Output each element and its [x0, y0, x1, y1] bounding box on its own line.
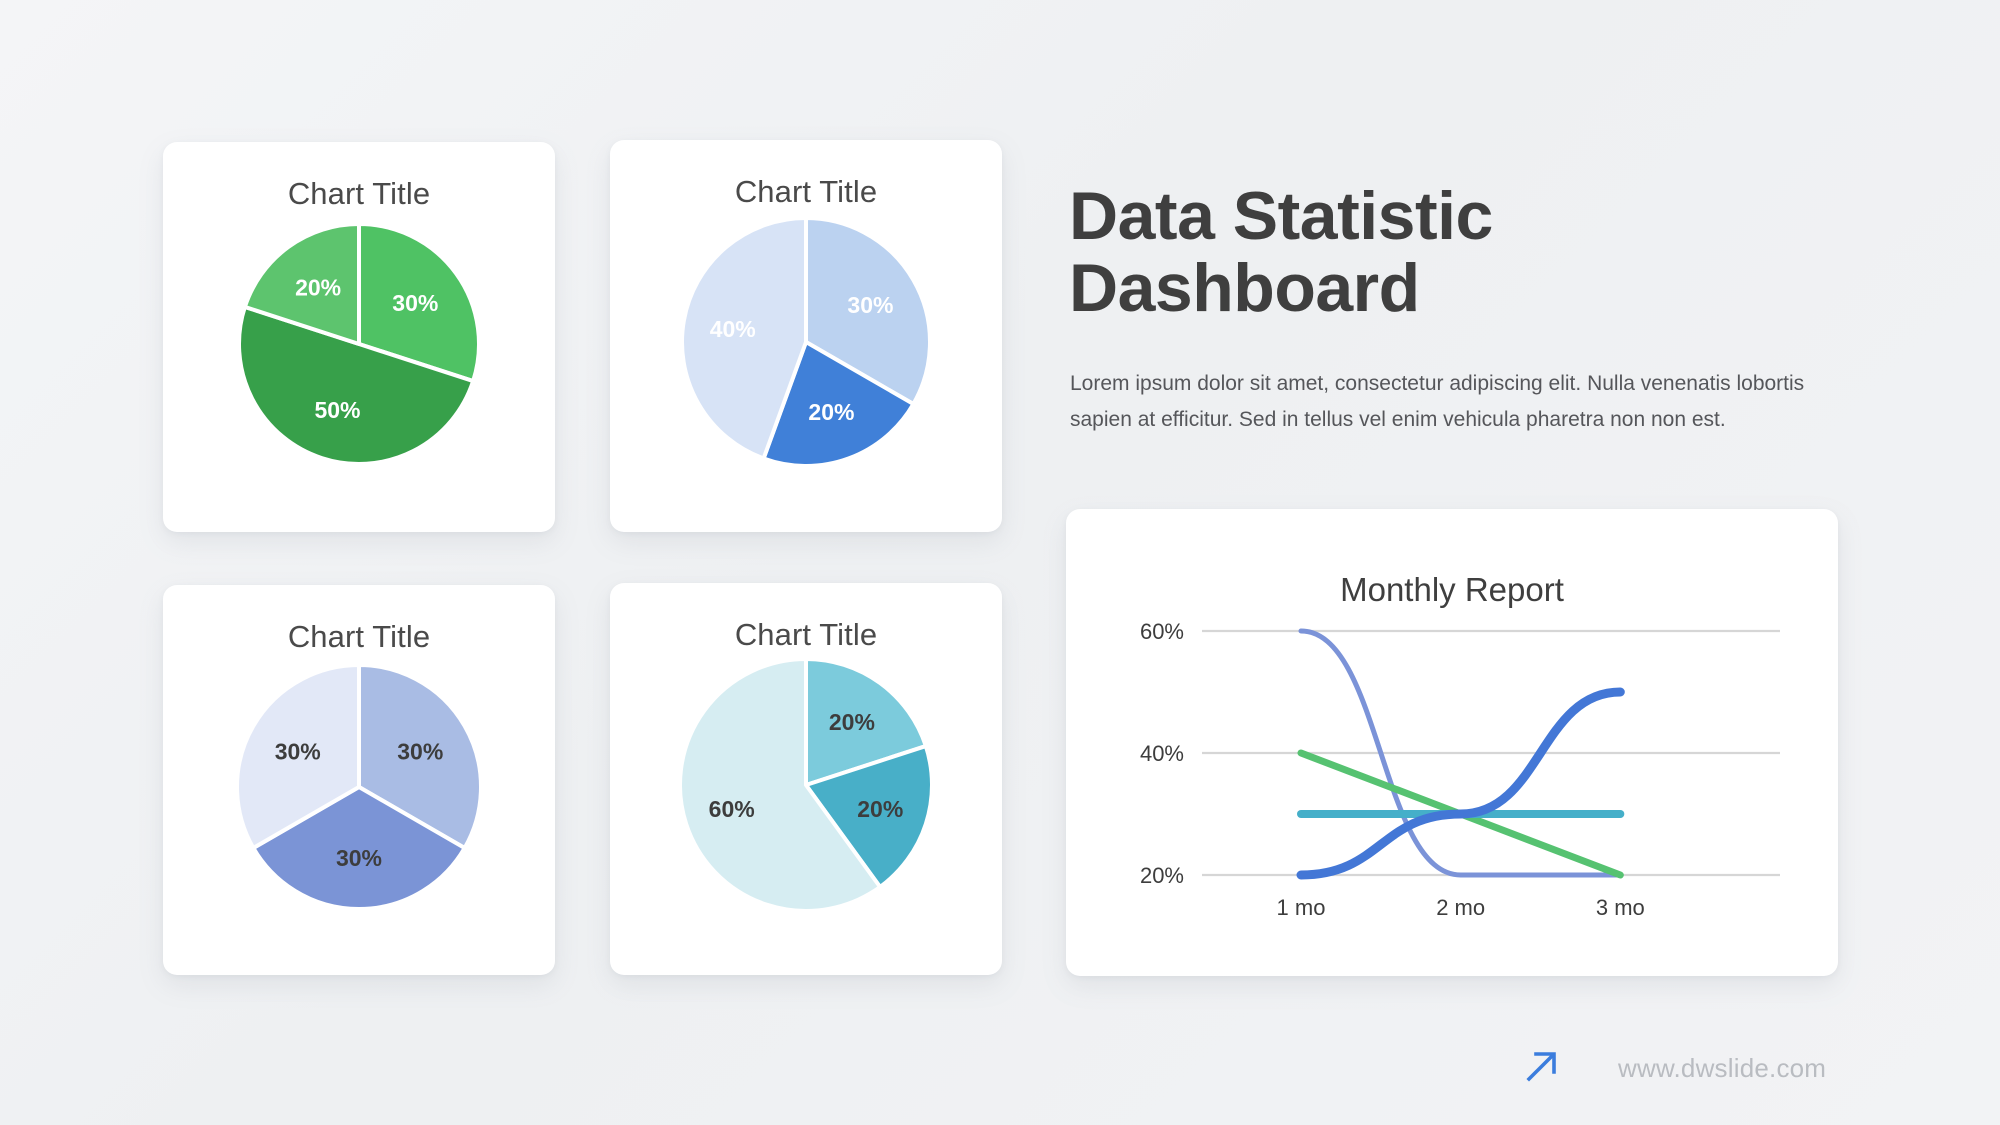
pie-slice-label: 20% [829, 709, 875, 735]
chart-card-pie-2: Chart Title 30%20%40% [610, 140, 1002, 532]
pie-slice-label: 50% [314, 397, 360, 423]
footer-url: www.dwslide.com [1618, 1053, 1826, 1084]
pie-chart-3: 30%30%30% [229, 657, 489, 917]
pie-slice-label: 20% [295, 275, 341, 301]
pie-slice-label: 20% [857, 796, 903, 822]
chart-card-monthly-report: Monthly Report 20%40%60%1 mo2 mo3 mo [1066, 509, 1838, 976]
x-axis-tick-label: 1 mo [1277, 895, 1326, 920]
y-axis-tick-label: 40% [1140, 741, 1184, 766]
pie-slice-label: 30% [397, 739, 443, 765]
chart-title-pie-1: Chart Title [163, 176, 555, 212]
pie-slice-label: 60% [709, 796, 755, 822]
line-series-series-4 [1301, 692, 1620, 875]
pie-slice-label: 30% [275, 739, 321, 765]
x-axis-tick-label: 2 mo [1436, 895, 1485, 920]
arrow-up-right-icon [1522, 1046, 1562, 1091]
footer: www.dwslide.com [1522, 1046, 1826, 1091]
x-axis-tick-label: 3 mo [1596, 895, 1645, 920]
chart-card-pie-3: Chart Title 30%30%30% [163, 585, 555, 975]
chart-card-pie-4: Chart Title 20%20%60% [610, 583, 1002, 975]
pie-chart-4: 20%20%60% [676, 655, 936, 915]
monthly-report-line-chart: 20%40%60%1 mo2 mo3 mo [1094, 617, 1810, 937]
pie-slice-label: 40% [710, 316, 756, 342]
pie-slice-label: 30% [392, 290, 438, 316]
pie-chart-1-svg: 30%50%20% [229, 214, 489, 474]
page-title: Data Statistic Dashboard [1069, 180, 1829, 326]
pie-chart-2: 30%20%40% [676, 212, 936, 472]
chart-title-pie-4: Chart Title [610, 617, 1002, 653]
pie-slice-label: 30% [336, 845, 382, 871]
intro-paragraph: Lorem ipsum dolor sit amet, consectetur … [1070, 366, 1810, 438]
chart-title-pie-3: Chart Title [163, 619, 555, 655]
pie-chart-3-svg: 30%30%30% [229, 657, 489, 917]
pie-slice-label: 20% [808, 399, 854, 425]
pie-chart-4-svg: 20%20%60% [676, 655, 936, 915]
chart-card-pie-1: Chart Title 30%50%20% [163, 142, 555, 532]
pie-slice-label: 30% [847, 292, 893, 318]
chart-title-pie-2: Chart Title [610, 174, 1002, 210]
chart-title-monthly-report: Monthly Report [1066, 571, 1838, 609]
y-axis-tick-label: 20% [1140, 863, 1184, 888]
pie-chart-2-svg: 30%20%40% [676, 212, 936, 472]
pie-chart-1: 30%50%20% [229, 214, 489, 474]
y-axis-tick-label: 60% [1140, 619, 1184, 644]
